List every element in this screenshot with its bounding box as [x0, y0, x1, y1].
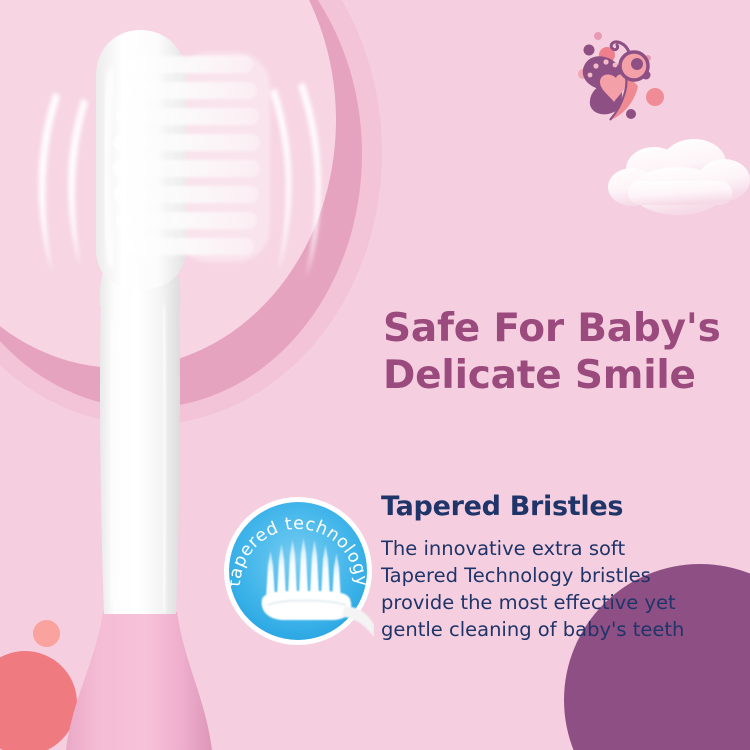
- product-marketing-image: Safe For Baby's Delicate Smile: [0, 0, 750, 750]
- headline-line-1: Safe For Baby's: [383, 305, 733, 352]
- feature-body-line-3: provide the most effective yet: [381, 589, 731, 616]
- cloud-icon: [602, 135, 750, 235]
- feature-description: The innovative extra soft Tapered Techno…: [381, 535, 731, 643]
- feature-body-line-1: The innovative extra soft: [381, 535, 731, 562]
- feature-body-line-4: gentle cleaning of baby's teeth: [381, 616, 731, 643]
- tapered-technology-badge: tapered technology: [222, 495, 374, 647]
- feature-body-line-2: Tapered Technology bristles: [381, 562, 731, 589]
- feature-title: Tapered Bristles: [381, 491, 623, 522]
- page-title: Safe For Baby's Delicate Smile: [383, 305, 733, 399]
- butterfly-icon: [560, 22, 675, 132]
- headline-line-2: Delicate Smile: [383, 352, 733, 399]
